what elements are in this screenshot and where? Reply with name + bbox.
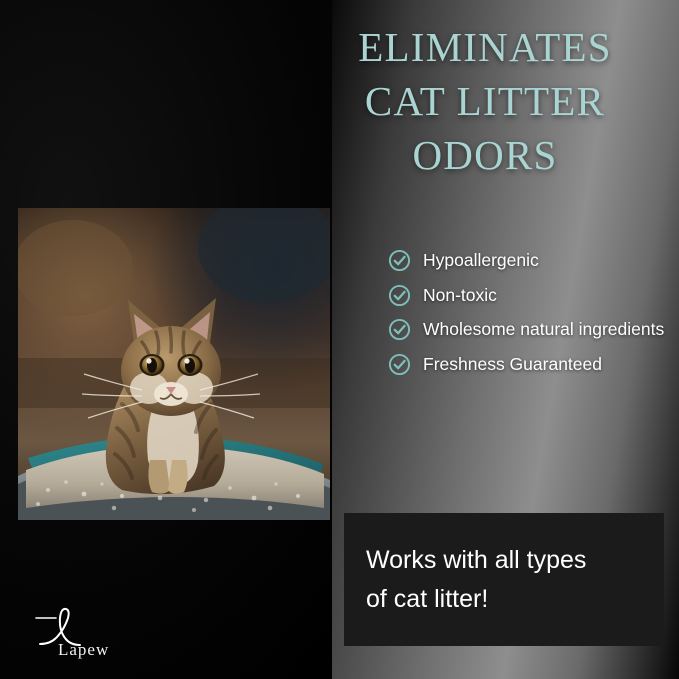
callout-text: Works with all types of cat litter! (344, 541, 608, 619)
check-circle-icon (388, 353, 411, 376)
product-advertisement: ELIMINATES CAT LITTER ODORS (0, 0, 679, 679)
check-circle-icon (388, 249, 411, 272)
check-circle-icon (388, 318, 411, 341)
check-circle-icon (388, 284, 411, 307)
headline: ELIMINATES CAT LITTER ODORS (300, 20, 670, 182)
feature-label: Hypoallergenic (423, 248, 539, 273)
list-item: Freshness Guaranteed (388, 352, 672, 377)
headline-line-3: ODORS (300, 128, 670, 182)
headline-line-2: CAT LITTER (300, 74, 670, 128)
headline-line-1: ELIMINATES (300, 20, 670, 74)
list-item: Hypoallergenic (388, 248, 672, 273)
callout-line-1: Works with all types (366, 541, 586, 580)
kitten-in-litter-box-photo (18, 208, 330, 520)
feature-label: Wholesome natural ingredients (423, 317, 664, 342)
callout-box: Works with all types of cat litter! (344, 513, 664, 646)
list-item: Wholesome natural ingredients (388, 317, 672, 342)
list-item: Non-toxic (388, 283, 672, 308)
feature-label: Freshness Guaranteed (423, 352, 602, 377)
feature-label: Non-toxic (423, 283, 497, 308)
brand-name: Lapew (58, 640, 109, 660)
callout-line-2: of cat litter! (366, 580, 586, 619)
brand-logo: Lapew (34, 604, 184, 664)
feature-list: Hypoallergenic Non-toxic Wholesome natur… (388, 248, 672, 386)
